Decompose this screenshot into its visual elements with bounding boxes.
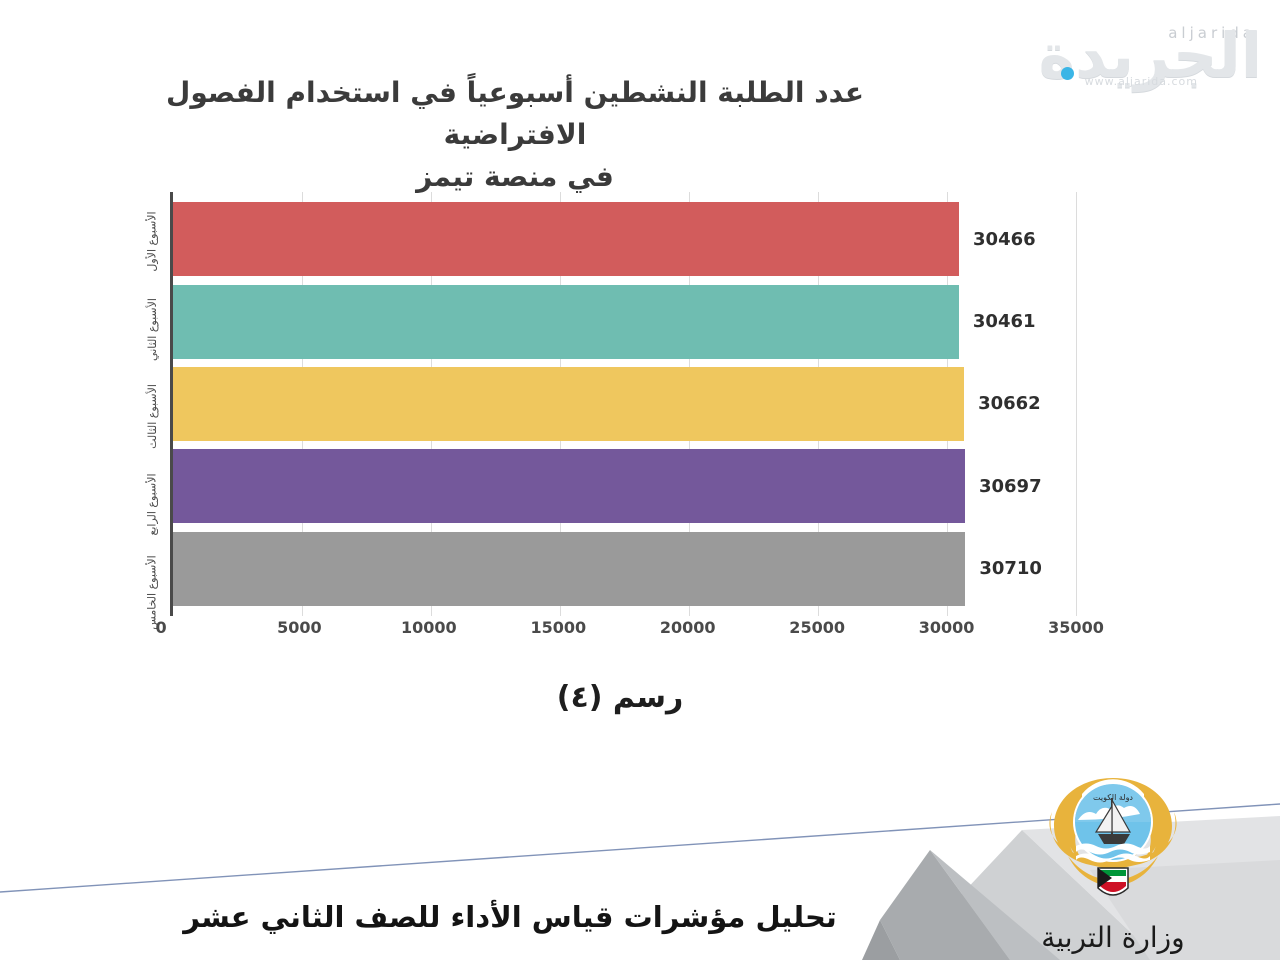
watermark-subtitle: aljarida [1168, 24, 1256, 42]
x-axis: 05000100001500020000250003000035000 [170, 616, 1076, 646]
figure-caption: رسم (٤) [0, 680, 1240, 715]
bar-series: 3046630461306623069730710 [173, 198, 1076, 610]
bar-value-label: 30662 [978, 393, 1041, 414]
y-axis-category-label: الأسبوع الثالث [136, 373, 168, 461]
bar-row[interactable]: 30697 [173, 445, 1076, 527]
watermark-title: الجريدة [1039, 26, 1262, 88]
y-axis-category-text: الأسبوع الأول [146, 212, 159, 272]
kuwait-state-emblem-icon: دولة الكويت [1038, 760, 1188, 910]
ministry-logo: دولة الكويت وزارة التربية [968, 756, 1258, 956]
x-axis-tick-label: 25000 [789, 618, 845, 637]
bar-value-label: 30697 [979, 476, 1042, 497]
bar[interactable] [173, 285, 959, 359]
y-axis-category-label: الأسبوع الثاني [136, 286, 168, 374]
y-axis-category-labels: الأسبوع الأولالأسبوع الثانيالأسبوع الثال… [136, 198, 168, 636]
watermark-url: www.aljarida.com [1085, 75, 1198, 88]
gridline [1076, 192, 1077, 616]
bar-chart: الأسبوع الأولالأسبوع الثانيالأسبوع الثال… [136, 192, 1076, 642]
x-axis-tick-label: 15000 [530, 618, 586, 637]
x-axis-tick-label: 0 [156, 618, 167, 637]
bar-row[interactable]: 30710 [173, 528, 1076, 610]
bar-value-label: 30466 [973, 229, 1036, 250]
y-axis-category-label: الأسبوع الرابع [136, 461, 168, 549]
svg-text:دولة الكويت: دولة الكويت [1093, 793, 1133, 802]
x-axis-tick-label: 5000 [277, 618, 322, 637]
watermark-dot-icon [1061, 67, 1074, 80]
y-axis-category-label: الأسبوع الأول [136, 198, 168, 286]
bar[interactable] [173, 449, 965, 523]
bar-value-label: 30461 [973, 311, 1036, 332]
x-axis-tick-label: 10000 [401, 618, 457, 637]
y-axis-category-text: الأسبوع الثاني [146, 298, 159, 361]
chart-title: عدد الطلبة النشطين أسبوعياً في استخدام ا… [150, 72, 880, 198]
x-axis-tick-label: 20000 [660, 618, 716, 637]
bar[interactable] [173, 202, 959, 276]
x-axis-tick-label: 35000 [1048, 618, 1104, 637]
bar-value-label: 30710 [979, 558, 1042, 579]
chart-title-line-1: عدد الطلبة النشطين أسبوعياً في استخدام ا… [166, 76, 864, 151]
plot-area: 3046630461306623069730710 [170, 192, 1076, 616]
bar-row[interactable]: 30662 [173, 363, 1076, 445]
ministry-name: وزارة التربية [968, 921, 1258, 954]
bar[interactable] [173, 532, 965, 606]
aljarida-watermark: aljarida الجريدة www.aljarida.com [1000, 4, 1270, 96]
bar[interactable] [173, 367, 964, 441]
y-axis-category-text: الأسبوع الثالث [146, 385, 159, 450]
bar-row[interactable]: 30466 [173, 198, 1076, 280]
x-axis-tick-label: 30000 [919, 618, 975, 637]
bar-row[interactable]: 30461 [173, 280, 1076, 362]
footer-title: تحليل مؤشرات قياس الأداء للصف الثاني عشر [140, 900, 880, 934]
y-axis-category-text: الأسبوع الرابع [146, 474, 159, 536]
slide-canvas: aljarida الجريدة www.aljarida.com عدد ال… [0, 0, 1280, 960]
